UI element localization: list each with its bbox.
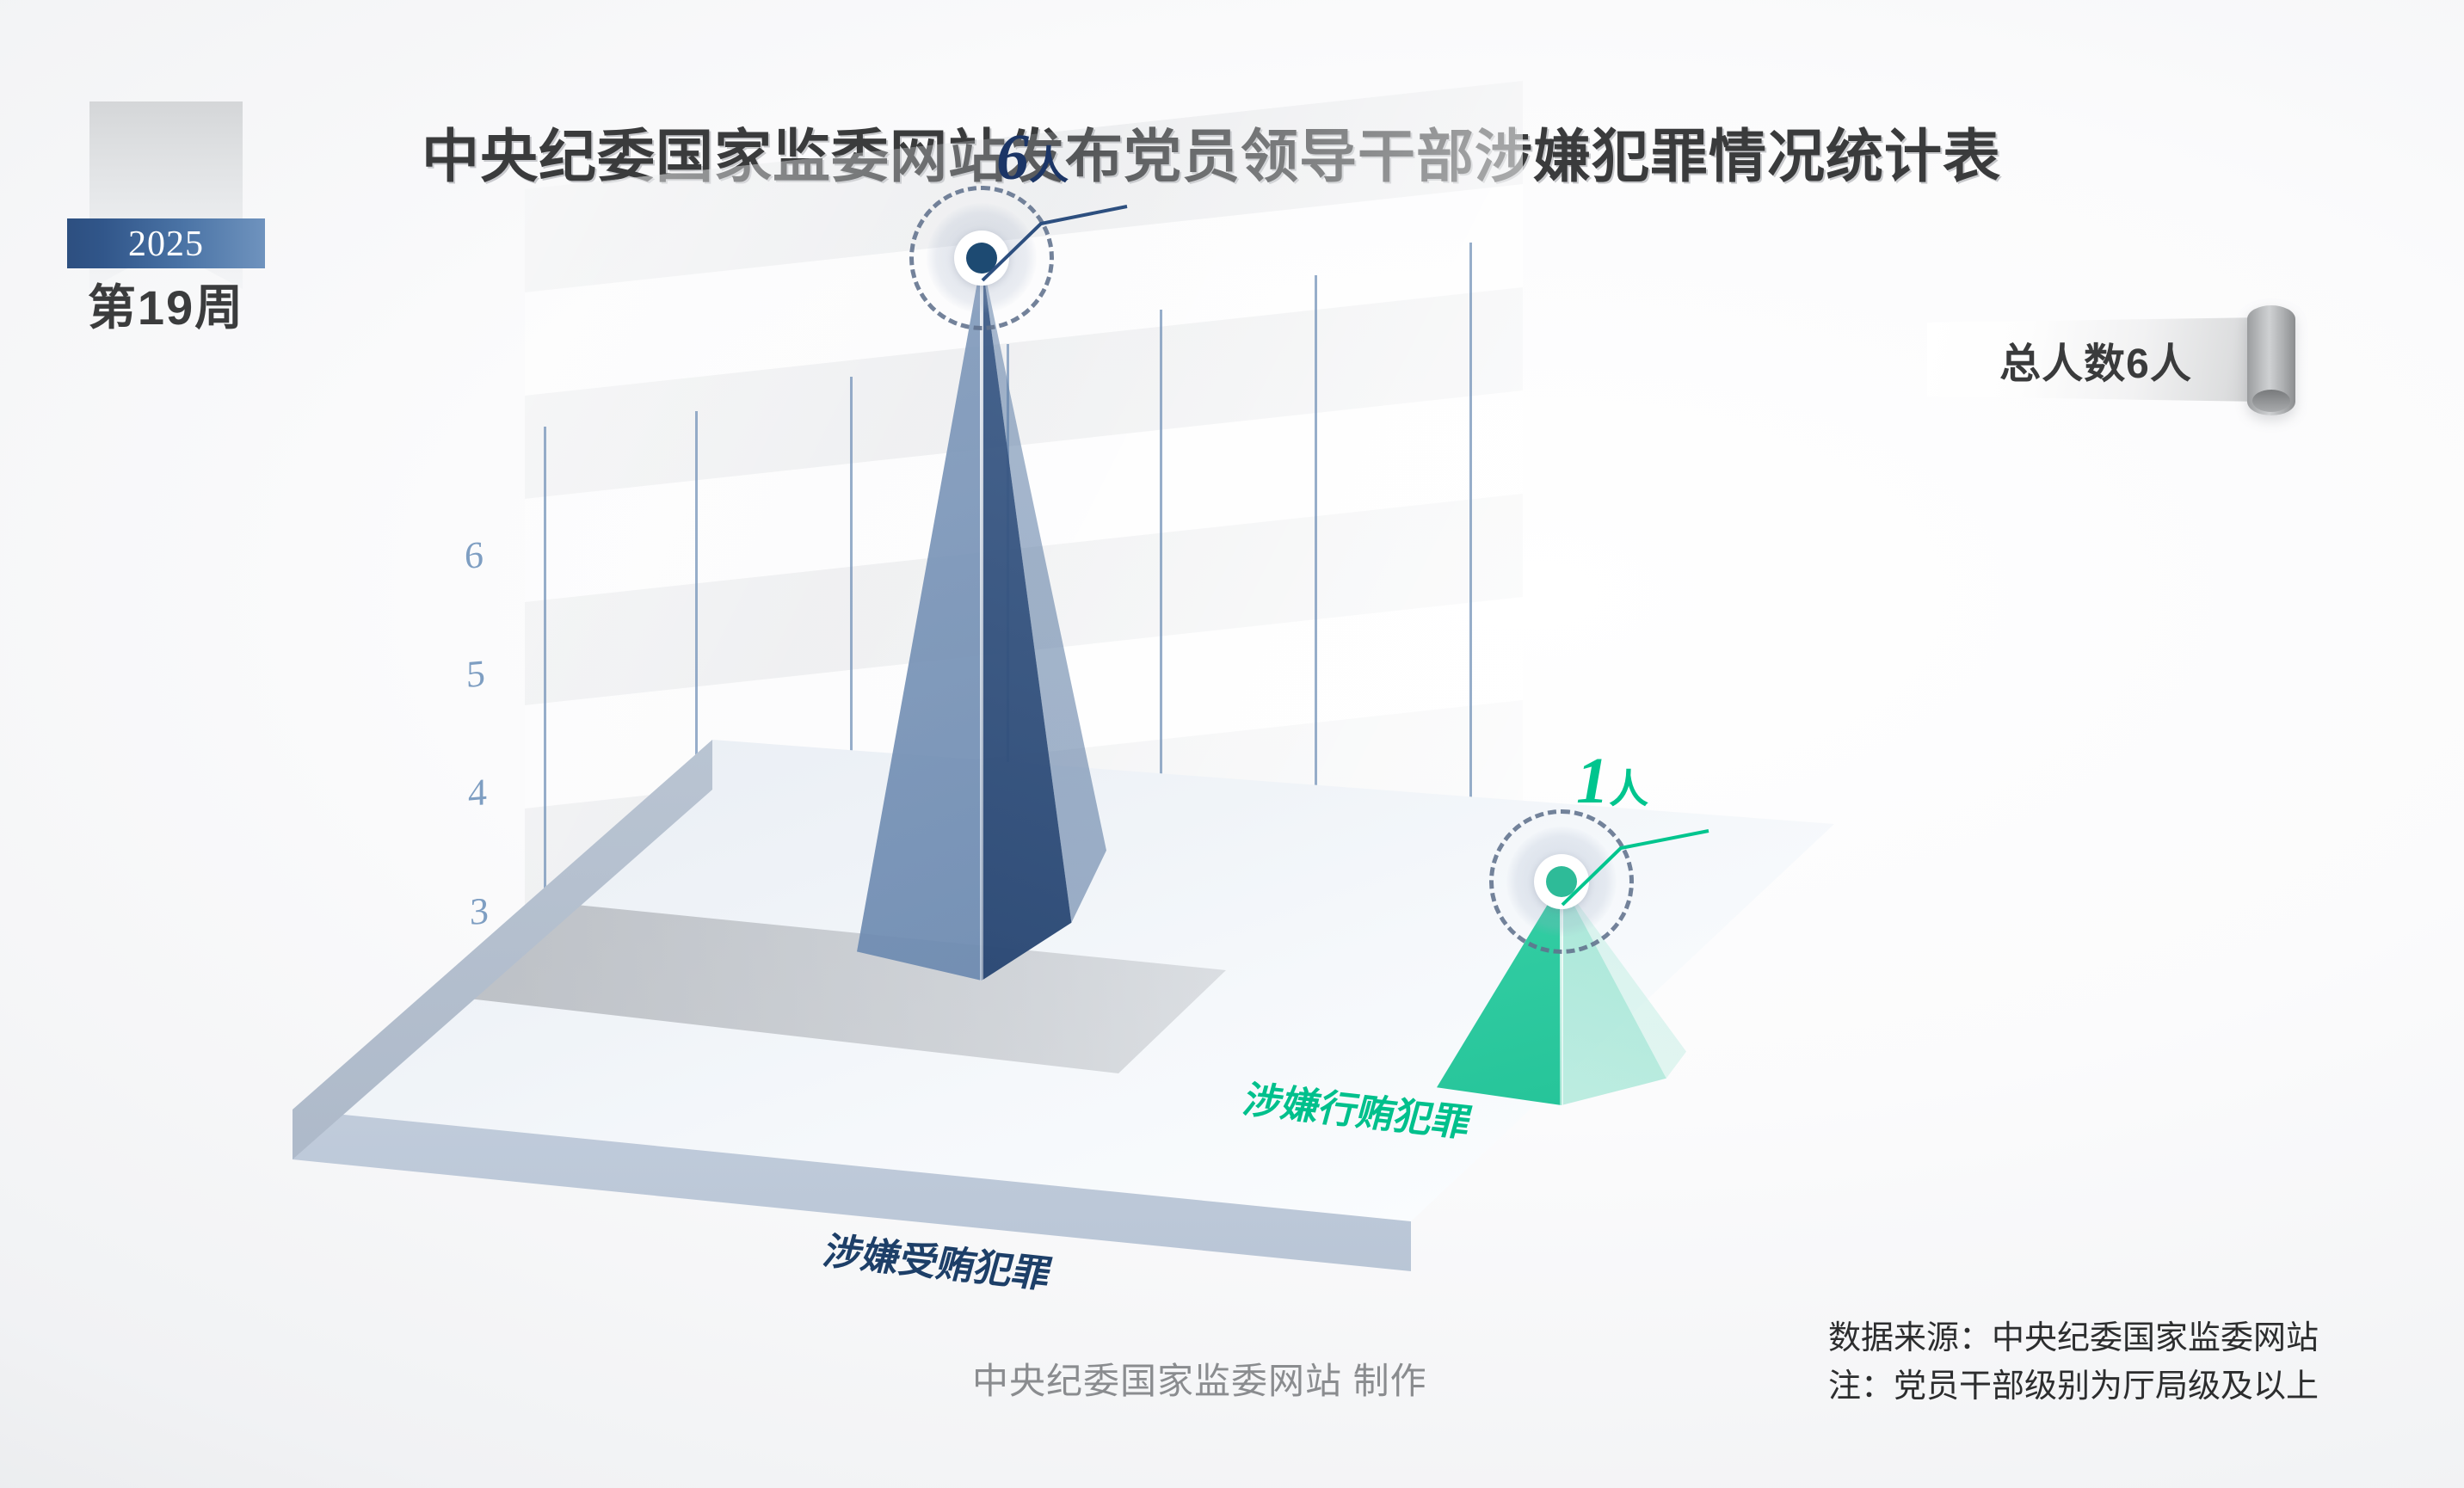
bookmark-week: 第19周: [67, 270, 265, 337]
infographic-canvas: 2025 第19周 中央纪委国家监委网站发布党员领导干部涉嫌犯罪情况统计表 总人…: [0, 0, 2464, 1488]
data-label-bribe-giving: 1人: [1576, 744, 1648, 819]
marker-dot: [966, 243, 997, 274]
data-label-value: 6: [996, 121, 1029, 194]
chart-base-platform: [293, 740, 1979, 1342]
bookmark-year: 2025: [67, 220, 265, 268]
data-label-unit: 人: [1609, 766, 1648, 811]
bar-pyramid-bribe-taking[interactable]: [857, 258, 1106, 981]
marker-dot: [1546, 866, 1577, 897]
circle-marker-icon-bribe-giving[interactable]: [1484, 804, 1639, 959]
data-label-value: 1: [1576, 745, 1609, 817]
data-label-bribe-taking: 6人: [996, 120, 1069, 195]
maker-credit: 中央纪委国家监委网站 制作: [972, 1352, 1427, 1405]
pyramid-edge: [980, 258, 983, 981]
source-note-block: 数据来源：中央纪委国家监委网站 注：党员干部级别为厅局级及以上: [1828, 1314, 2319, 1411]
y-axis-label-5: 5: [466, 651, 485, 697]
data-source-line: 数据来源：中央纪委国家监委网站: [1828, 1314, 2319, 1362]
circle-marker-icon-bribe-taking[interactable]: [904, 181, 1059, 335]
chart-scene: 6 5 4 3 2 1: [447, 189, 2013, 1359]
footnote-line: 注：党员干部级别为厅局级及以上: [1828, 1362, 2319, 1411]
week-bookmark: 2025 第19周: [67, 101, 265, 289]
data-label-unit: 人: [1029, 143, 1069, 188]
y-axis-label-6: 6: [465, 532, 484, 578]
